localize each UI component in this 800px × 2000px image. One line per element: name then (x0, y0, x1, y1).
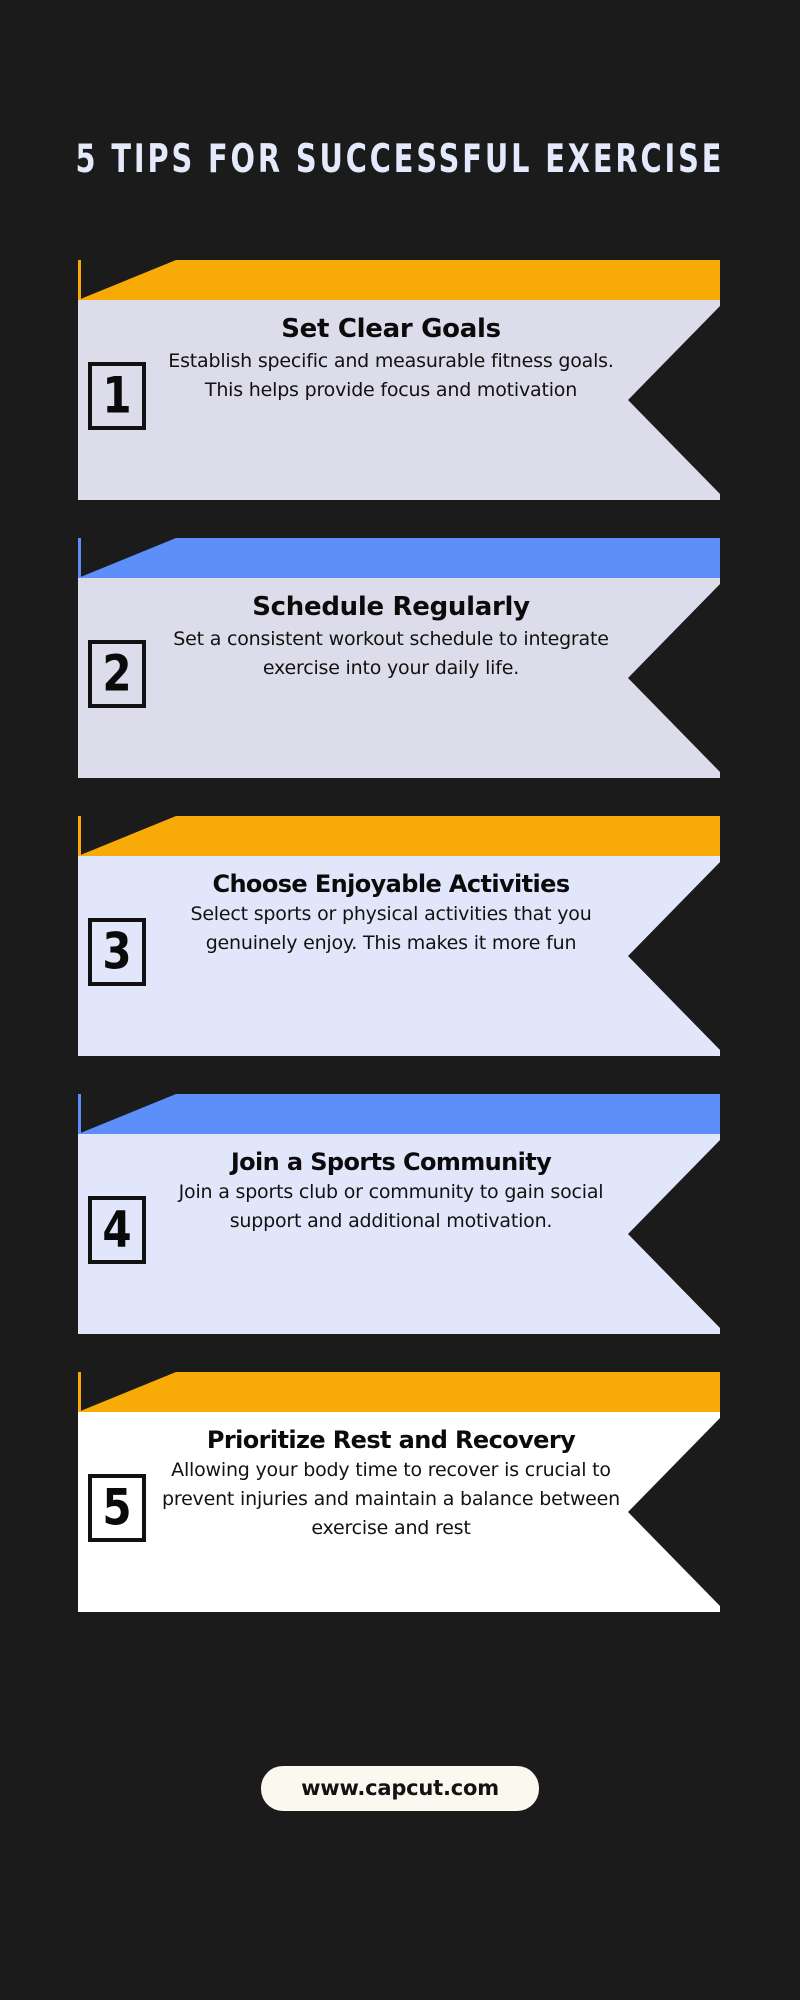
card-number: 1 (102, 371, 131, 421)
card-title: Prioritize Rest and Recovery (156, 1426, 626, 1454)
card-number-box: 1 (88, 362, 146, 430)
card-text-column: Set Clear GoalsEstablish specific and me… (156, 314, 626, 404)
tip-card: Choose Enjoyable ActivitiesSelect sports… (78, 816, 720, 1056)
card-banner (78, 538, 720, 578)
card-number: 3 (102, 927, 131, 977)
card-text-column: Prioritize Rest and RecoveryAllowing you… (156, 1426, 626, 1543)
card-number-box: 5 (88, 1474, 146, 1542)
card-body-inner: Set Clear GoalsEstablish specific and me… (78, 300, 720, 500)
card-description: Join a sports club or community to gain … (156, 1178, 626, 1236)
card-number-box: 2 (88, 640, 146, 708)
card-number-box: 3 (88, 918, 146, 986)
tip-card: Join a Sports CommunityJoin a sports clu… (78, 1094, 720, 1334)
card-accent-stripe (78, 1372, 81, 1412)
card-description: Set a consistent workout schedule to int… (156, 625, 626, 683)
card-title: Join a Sports Community (156, 1148, 626, 1176)
card-text-column: Choose Enjoyable ActivitiesSelect sports… (156, 870, 626, 958)
card-body: Schedule RegularlySet a consistent worko… (78, 578, 720, 778)
card-body: Prioritize Rest and RecoveryAllowing you… (78, 1412, 720, 1612)
card-body: Choose Enjoyable ActivitiesSelect sports… (78, 856, 720, 1056)
tip-card: Set Clear GoalsEstablish specific and me… (78, 260, 720, 500)
card-banner (78, 1372, 720, 1412)
card-number: 2 (102, 649, 131, 699)
tips-list: Set Clear GoalsEstablish specific and me… (0, 260, 800, 1650)
card-number-box: 4 (88, 1196, 146, 1264)
card-body-inner: Prioritize Rest and RecoveryAllowing you… (78, 1412, 720, 1612)
tip-card: Schedule RegularlySet a consistent worko… (78, 538, 720, 778)
page-title: 5 TiPS FOR SUCCESSFUL EXERCiSE (0, 142, 800, 177)
card-accent-stripe (78, 260, 81, 300)
card-banner (78, 260, 720, 300)
card-description: Select sports or physical activities tha… (156, 900, 626, 958)
card-banner (78, 816, 720, 856)
footer: www.capcut.com (0, 1766, 800, 1811)
page-title-text: 5 TiPS FOR SUCCESSFUL EXERCiSE (76, 137, 725, 183)
card-body-inner: Schedule RegularlySet a consistent worko… (78, 578, 720, 778)
card-body-inner: Join a Sports CommunityJoin a sports clu… (78, 1134, 720, 1334)
card-title: Set Clear Goals (156, 314, 626, 345)
card-body: Join a Sports CommunityJoin a sports clu… (78, 1134, 720, 1334)
card-accent-stripe (78, 538, 81, 578)
card-title: Schedule Regularly (156, 592, 626, 623)
card-accent-stripe (78, 1094, 81, 1134)
card-body-inner: Choose Enjoyable ActivitiesSelect sports… (78, 856, 720, 1056)
footer-url-badge: www.capcut.com (261, 1766, 539, 1811)
card-banner (78, 1094, 720, 1134)
card-number: 4 (102, 1205, 131, 1255)
card-text-column: Schedule RegularlySet a consistent worko… (156, 592, 626, 682)
card-description: Establish specific and measurable fitnes… (156, 347, 626, 405)
card-text-column: Join a Sports CommunityJoin a sports clu… (156, 1148, 626, 1236)
card-body: Set Clear GoalsEstablish specific and me… (78, 300, 720, 500)
card-number: 5 (102, 1483, 131, 1533)
card-accent-stripe (78, 816, 81, 856)
card-description: Allowing your body time to recover is cr… (156, 1456, 626, 1543)
tip-card: Prioritize Rest and RecoveryAllowing you… (78, 1372, 720, 1612)
card-title: Choose Enjoyable Activities (156, 870, 626, 898)
